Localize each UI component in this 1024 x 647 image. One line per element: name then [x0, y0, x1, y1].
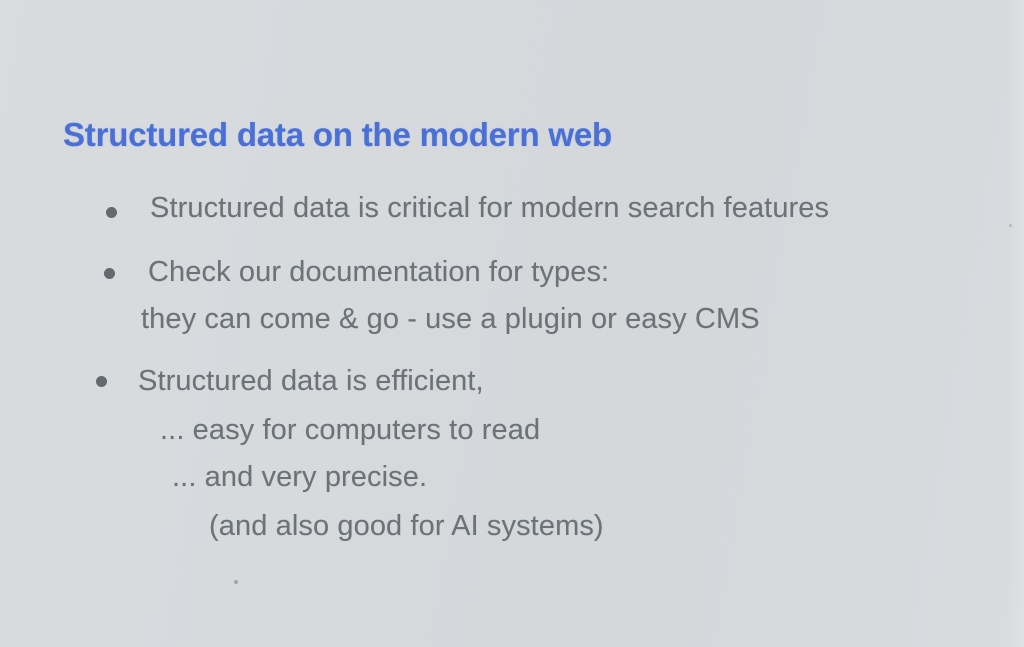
bullet-line-continuation: ... easy for computers to read: [160, 414, 540, 447]
bullet-dot-icon: [96, 376, 107, 387]
bullet-dot-icon: [106, 207, 117, 218]
presentation-slide: Structured data on the modern web Struct…: [0, 0, 1024, 647]
bullet-line-continuation: they can come & go - use a plugin or eas…: [141, 303, 760, 336]
speck-artifact: [1009, 224, 1012, 227]
bullet-line: Check our documentation for types:: [148, 256, 609, 289]
slide-content: Structured data on the modern web Struct…: [0, 0, 1024, 647]
bullet-line: Structured data is critical for modern s…: [150, 192, 829, 225]
stray-dot-artifact: [234, 580, 238, 584]
bullet-line-continuation: (and also good for AI systems): [209, 510, 604, 543]
slide-title: Structured data on the modern web: [63, 116, 612, 154]
bullet-line: Structured data is efficient,: [138, 365, 484, 398]
bullet-line-continuation: ... and very precise.: [172, 461, 427, 494]
bullet-dot-icon: [104, 268, 115, 279]
